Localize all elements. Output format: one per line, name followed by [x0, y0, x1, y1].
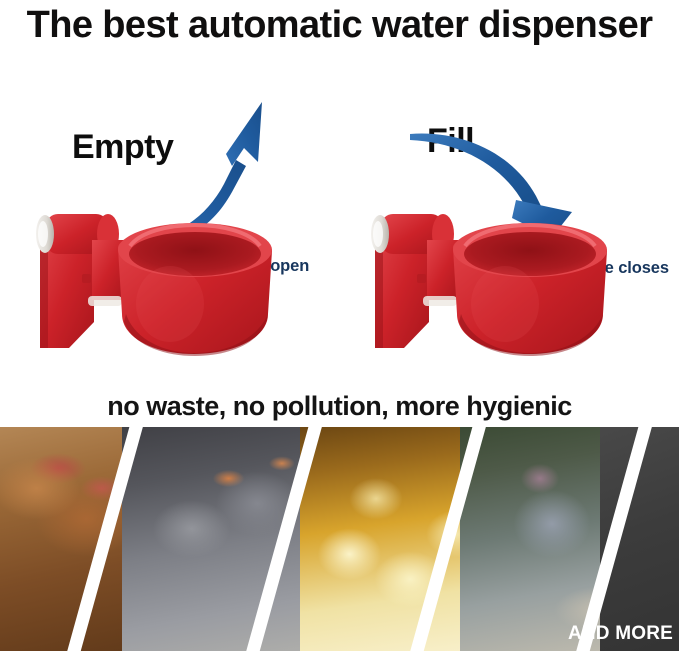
water-cup-empty	[22, 196, 290, 371]
and-more-label: AND MORE	[568, 623, 673, 645]
photo-strip: AND MORE	[0, 427, 679, 651]
poultry-water-cup-icon	[22, 196, 290, 371]
diagram-stage: Empty Valve open	[0, 86, 679, 386]
water-cup-fill	[357, 196, 625, 371]
tagline: no waste, no pollution, more hygienic	[0, 390, 679, 422]
product-infographic: The best automatic water dispenser Empty…	[0, 0, 679, 651]
page-title: The best automatic water dispenser	[0, 2, 679, 48]
photo-panel-geese	[122, 427, 327, 651]
poultry-water-cup-icon	[357, 196, 625, 371]
